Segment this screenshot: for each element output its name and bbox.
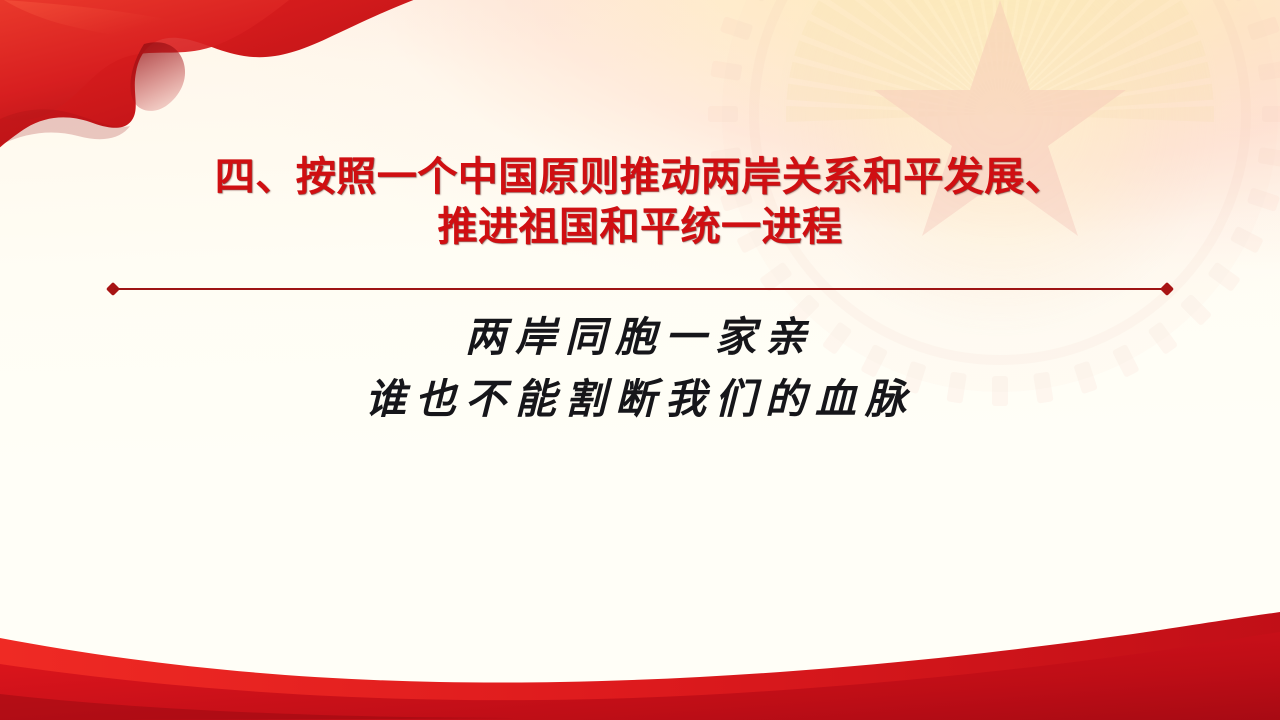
subtitle: 两岸同胞一家亲 谁也不能割断我们的血脉 xyxy=(0,306,1280,430)
diamond-bullet-right-icon xyxy=(1160,282,1174,296)
title-line-1: 四、按照一个中国原则推动两岸关系和平发展、 xyxy=(0,152,1280,202)
subtitle-line-1: 两岸同胞一家亲 xyxy=(0,306,1280,368)
title-line-2: 推进祖国和平统一进程 xyxy=(0,202,1280,252)
slide-content: 四、按照一个中国原则推动两岸关系和平发展、 推进祖国和平统一进程 两岸同胞一家亲… xyxy=(0,0,1280,720)
subtitle-line-2: 谁也不能割断我们的血脉 xyxy=(0,368,1280,430)
page-title: 四、按照一个中国原则推动两岸关系和平发展、 推进祖国和平统一进程 xyxy=(0,152,1280,252)
decorative-divider xyxy=(108,283,1172,295)
slide-canvas: 四、按照一个中国原则推动两岸关系和平发展、 推进祖国和平统一进程 两岸同胞一家亲… xyxy=(0,0,1280,720)
divider-rule xyxy=(114,288,1166,290)
